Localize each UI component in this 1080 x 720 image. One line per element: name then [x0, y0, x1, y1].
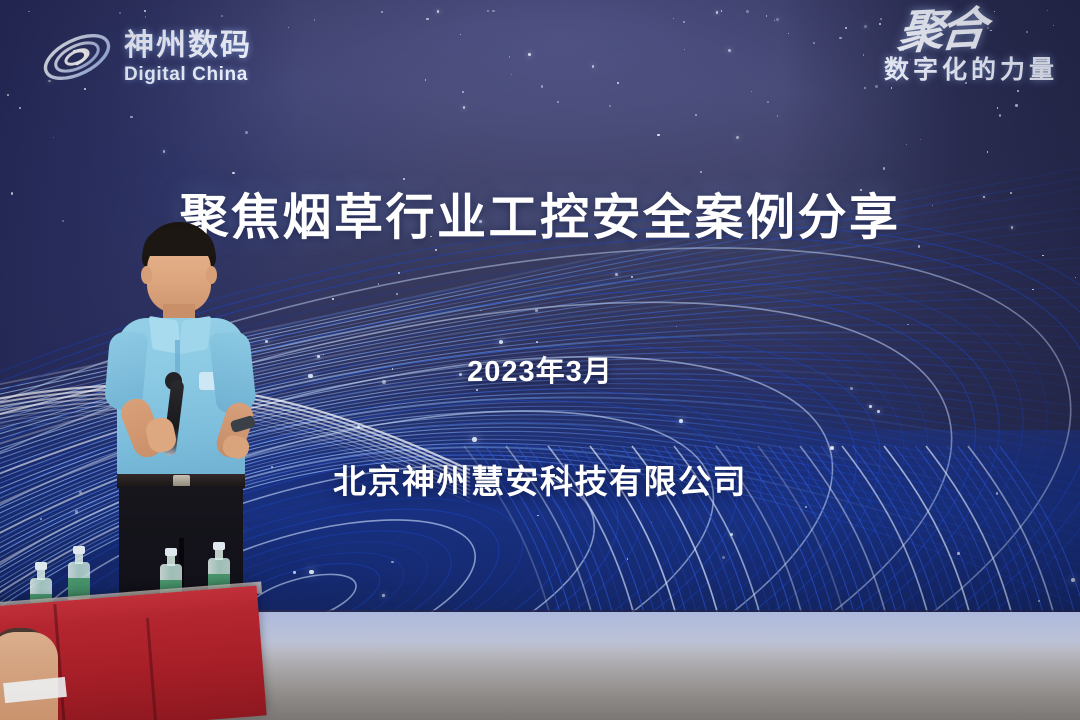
particle-dot — [463, 106, 466, 109]
particle-dot — [987, 151, 989, 153]
particle-dot — [722, 556, 725, 559]
particle-dot — [609, 105, 611, 107]
particle-dot — [830, 446, 834, 450]
particle-dot — [314, 19, 315, 20]
particle-dot — [7, 94, 10, 97]
particle-dot — [509, 56, 510, 57]
particle-dot — [435, 249, 437, 251]
particle-dot — [357, 425, 360, 428]
particle-dot — [673, 18, 674, 19]
conference-photo: 神州数码 Digital China 聚合 数字化的力量 聚焦烟草行业工控安全案… — [0, 0, 1080, 720]
event-logo: 聚合 数字化的力量 — [798, 12, 1058, 112]
particle-dot — [396, 293, 398, 295]
particle-dot — [736, 136, 739, 139]
particle-dot — [684, 49, 686, 51]
particle-dot — [245, 131, 248, 134]
particle-dot — [75, 510, 79, 514]
particle-dot — [144, 10, 146, 12]
particle-dot — [288, 27, 289, 28]
particle-dot — [805, 506, 807, 508]
speaker-sleeve-right — [209, 330, 257, 414]
particle-dot — [774, 20, 775, 21]
particle-dot — [788, 33, 789, 34]
particle-dot — [777, 115, 778, 116]
particle-dot — [541, 85, 543, 87]
particle-dot — [957, 552, 959, 554]
particle-dot — [557, 101, 559, 103]
particle-dot — [437, 10, 440, 13]
particle-dot — [651, 522, 653, 524]
particle-dot — [426, 18, 429, 21]
digital-china-swirl-icon — [40, 26, 114, 88]
particle-dot — [695, 114, 697, 116]
event-logo-calligraphy: 聚合 — [795, 7, 985, 59]
foreground-attendee — [0, 632, 58, 720]
particle-dot — [536, 341, 538, 343]
particle-dot — [391, 561, 393, 563]
particle-dot — [499, 340, 503, 344]
particle-dot — [487, 10, 489, 12]
particle-dot — [382, 594, 385, 597]
particle-dot — [480, 310, 482, 312]
particle-dot — [906, 144, 908, 146]
particle-dot — [425, 79, 426, 80]
particle-dot — [728, 49, 731, 52]
particle-dot — [293, 571, 295, 573]
particle-dot — [767, 101, 769, 103]
particle-dot — [53, 137, 54, 138]
speaker-figure — [95, 222, 275, 622]
particle-dot — [657, 134, 660, 137]
particle-dot — [472, 437, 476, 441]
particle-dot — [130, 116, 132, 118]
particle-dot — [883, 167, 886, 170]
particle-dot — [535, 309, 538, 312]
particle-dot — [592, 65, 595, 68]
particle-dot — [877, 410, 880, 413]
particle-dot — [163, 150, 166, 153]
particle-dot — [381, 11, 383, 13]
particle-dot — [1042, 255, 1044, 257]
logo-english-name: Digital China — [124, 65, 252, 84]
particle-dot — [1075, 277, 1076, 278]
particle-dot — [378, 283, 379, 284]
particle-dot — [617, 82, 619, 84]
particle-dot — [683, 21, 685, 23]
particle-dot — [537, 515, 539, 517]
particle-dot — [679, 419, 683, 423]
speaker-ear-left — [141, 266, 152, 284]
particle-dot — [751, 91, 752, 92]
speaker-hair-front — [143, 228, 215, 256]
particle-dot — [766, 15, 768, 17]
particle-dot — [232, 172, 234, 174]
particle-dot — [999, 114, 1002, 117]
particle-dot — [221, 15, 223, 17]
particle-dot — [716, 11, 719, 14]
particle-dot — [746, 10, 749, 13]
particle-dot — [700, 171, 702, 173]
particle-dot — [460, 34, 461, 35]
particle-dot — [627, 558, 629, 560]
particle-dot — [528, 53, 531, 56]
speaker-ear-right — [206, 266, 217, 284]
particle-dot — [398, 272, 400, 274]
particle-dot — [869, 405, 872, 408]
particle-dot — [721, 10, 723, 12]
particle-dot — [615, 273, 618, 276]
particle-dot — [631, 276, 633, 278]
particle-dot — [492, 10, 494, 12]
speaker-collar-right — [179, 316, 212, 354]
logo-chinese-name: 神州数码 — [124, 31, 252, 61]
digital-china-logo: 神州数码 Digital China — [40, 18, 280, 96]
particle-dot — [40, 518, 42, 520]
particle-dot — [776, 18, 779, 21]
particle-dot — [920, 139, 921, 140]
particle-dot — [1032, 289, 1033, 290]
particle-dot — [332, 298, 334, 300]
particle-dot — [676, 326, 677, 327]
particle-dot — [28, 11, 30, 13]
particle-dot — [1038, 600, 1040, 602]
particle-dot — [511, 74, 512, 75]
particle-dot — [1071, 578, 1075, 582]
particle-dot — [730, 533, 733, 536]
particle-dot — [19, 107, 21, 109]
particle-dot — [907, 324, 909, 326]
particle-dot — [309, 570, 313, 574]
particle-dot — [119, 12, 121, 14]
particle-dot — [462, 91, 464, 93]
